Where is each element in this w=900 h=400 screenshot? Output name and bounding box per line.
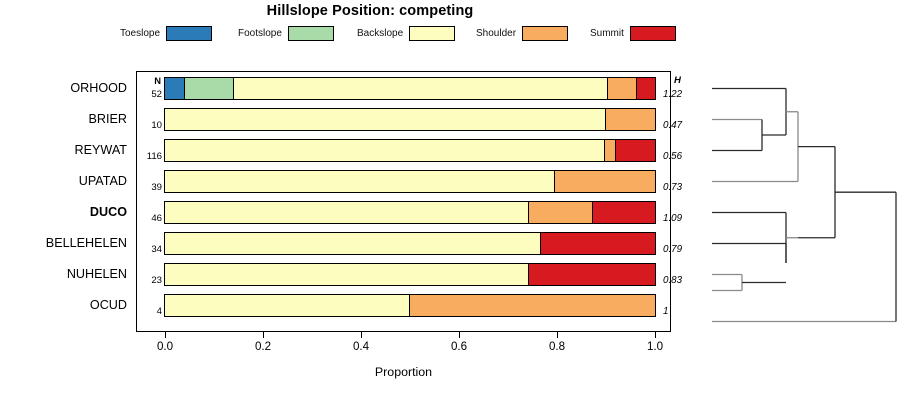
bar-segment-summit[interactable]	[540, 232, 656, 255]
bar-row-brier[interactable]	[165, 108, 655, 131]
n-value-ocud: 4	[157, 306, 162, 317]
page-title: Hillslope Position: competing	[0, 3, 740, 19]
legend-swatch	[288, 26, 334, 41]
legend-item-shoulder: Shoulder	[476, 24, 568, 42]
n-value-duco: 46	[151, 213, 162, 224]
category-label-duco: DUCO	[90, 205, 127, 219]
bar-row-upatad[interactable]	[165, 170, 655, 193]
bar-segment-summit[interactable]	[615, 139, 656, 162]
category-label-brier: BRIER	[89, 112, 128, 126]
x-tick-mark	[655, 332, 656, 338]
h-column-header: H	[674, 75, 681, 86]
legend-swatch	[522, 26, 568, 41]
x-tick-label: 0.6	[451, 340, 467, 353]
n-value-upatad: 39	[151, 182, 162, 193]
category-axis-labels: ORHOODBRIERREYWATUPATADDUCOBELLEHELENNUH…	[0, 71, 131, 332]
bar-segment-backslope[interactable]	[233, 77, 609, 100]
category-label-ocud: OCUD	[90, 298, 127, 312]
bar-row-duco[interactable]	[165, 201, 655, 224]
bar-segment-backslope[interactable]	[164, 201, 529, 224]
chart-root: Hillslope Position: competing ToeslopeFo…	[0, 0, 900, 400]
bar-segment-backslope[interactable]	[164, 294, 410, 317]
bar-row-ocud[interactable]	[165, 294, 655, 317]
legend-item-footslope: Footslope	[238, 24, 334, 42]
h-column: H 1.220.470.560.731.090.790.831	[658, 71, 706, 332]
category-label-orhood: ORHOOD	[70, 81, 127, 95]
n-value-brier: 10	[151, 120, 162, 131]
x-tick-label: 0.2	[255, 340, 271, 353]
legend: ToeslopeFootslopeBackslopeShoulderSummit	[120, 24, 720, 42]
bar-segment-backslope[interactable]	[164, 108, 606, 131]
bar-row-orhood[interactable]	[165, 77, 655, 100]
bar-row-reywat[interactable]	[165, 139, 655, 162]
bar-segment-summit[interactable]	[528, 263, 655, 286]
h-value-brier: 0.47	[663, 120, 682, 131]
x-tick-mark	[557, 332, 558, 338]
h-value-reywat: 0.56	[663, 151, 682, 162]
x-tick-mark	[459, 332, 460, 338]
legend-item-toeslope: Toeslope	[120, 24, 212, 42]
x-tick-mark	[361, 332, 362, 338]
legend-label: Backslope	[357, 28, 403, 39]
n-column-header: N	[154, 75, 161, 86]
dendrogram	[700, 60, 900, 345]
bar-segment-shoulder[interactable]	[605, 108, 655, 131]
h-value-nuhelen: 0.83	[663, 275, 682, 286]
h-value-bellehelen: 0.79	[663, 244, 682, 255]
x-axis-title: Proportion	[136, 365, 671, 379]
category-label-reywat: REYWAT	[75, 143, 127, 157]
h-value-orhood: 1.22	[663, 89, 682, 100]
legend-label: Shoulder	[476, 28, 516, 39]
bar-segment-backslope[interactable]	[164, 263, 529, 286]
x-tick-mark	[165, 332, 166, 338]
legend-swatch	[166, 26, 212, 41]
category-label-nuhelen: NUHELEN	[67, 267, 127, 281]
bar-segment-summit[interactable]	[592, 201, 656, 224]
category-label-bellehelen: BELLEHELEN	[46, 236, 127, 250]
legend-label: Toeslope	[120, 28, 160, 39]
bar-segment-backslope[interactable]	[164, 139, 605, 162]
x-tick-mark	[263, 332, 264, 338]
legend-item-backslope: Backslope	[357, 24, 455, 42]
n-value-orhood: 52	[151, 89, 162, 100]
h-value-ocud: 1	[663, 306, 668, 317]
legend-label: Footslope	[238, 28, 282, 39]
bar-segment-shoulder[interactable]	[607, 77, 637, 100]
h-value-duco: 1.09	[663, 213, 682, 224]
bar-segment-shoulder[interactable]	[528, 201, 593, 224]
legend-swatch	[409, 26, 455, 41]
bar-segment-shoulder[interactable]	[554, 170, 656, 193]
bar-segment-shoulder[interactable]	[409, 294, 655, 317]
bar-row-bellehelen[interactable]	[165, 232, 655, 255]
x-tick-label: 1.0	[647, 340, 663, 353]
bar-segment-summit[interactable]	[636, 77, 656, 100]
bar-segment-footslope[interactable]	[184, 77, 234, 100]
n-value-bellehelen: 34	[151, 244, 162, 255]
h-value-upatad: 0.73	[663, 182, 682, 193]
x-tick-label: 0.4	[353, 340, 369, 353]
legend-item-summit: Summit	[590, 24, 676, 42]
bar-segment-backslope[interactable]	[164, 232, 541, 255]
category-label-upatad: UPATAD	[79, 174, 127, 188]
n-column: N 5210116394634234	[137, 71, 164, 332]
legend-label: Summit	[590, 28, 624, 39]
bar-segment-toeslope[interactable]	[164, 77, 185, 100]
n-value-reywat: 116	[147, 151, 162, 162]
legend-swatch	[630, 26, 676, 41]
bar-segment-backslope[interactable]	[164, 170, 555, 193]
x-tick-label: 0.8	[549, 340, 565, 353]
bar-row-nuhelen[interactable]	[165, 263, 655, 286]
x-tick-label: 0.0	[157, 340, 173, 353]
n-value-nuhelen: 23	[151, 275, 162, 286]
